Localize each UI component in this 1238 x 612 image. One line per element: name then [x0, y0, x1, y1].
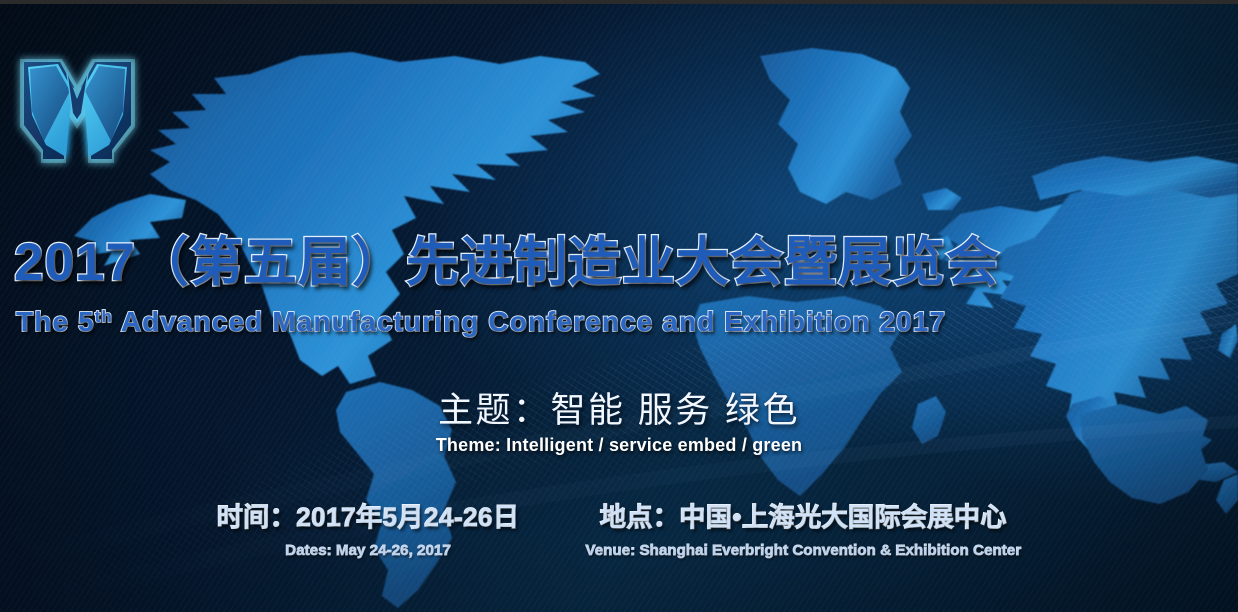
event-date-block: 时间：2017年5月24-26日 Dates: May 24-26, 2017 — [217, 497, 520, 559]
page-title-zh: 2017（第五届）先进制造业大会暨展览会 — [14, 234, 1228, 291]
event-venue-zh: 地点：中国•上海光大国际会展中心 — [586, 497, 1022, 534]
title-en-superscript: th — [95, 307, 113, 326]
title-en-suffix: Advanced Manufacturing Conference and Ex… — [113, 306, 946, 337]
top-edge-strip — [0, 0, 1238, 4]
event-info-row: 时间：2017年5月24-26日 Dates: May 24-26, 2017 … — [0, 497, 1238, 559]
event-date-zh: 时间：2017年5月24-26日 — [217, 497, 520, 534]
page-title-en: The 5th Advanced Manufacturing Conferenc… — [16, 306, 1226, 338]
stylized-m-shield-logo — [10, 45, 145, 175]
theme-line-en: Theme: Intelligent / service embed / gre… — [0, 435, 1238, 456]
title-en-prefix: The 5 — [16, 306, 95, 337]
event-date-en: Dates: May 24-26, 2017 — [217, 542, 520, 559]
conference-banner: 2017（第五届）先进制造业大会暨展览会 The 5th Advanced Ma… — [0, 0, 1238, 612]
event-venue-block: 地点：中国•上海光大国际会展中心 Venue: Shanghai Everbri… — [586, 497, 1022, 559]
theme-line-zh: 主题：智能 服务 绿色 — [0, 382, 1238, 433]
event-venue-en: Venue: Shanghai Everbright Convention & … — [586, 542, 1022, 559]
